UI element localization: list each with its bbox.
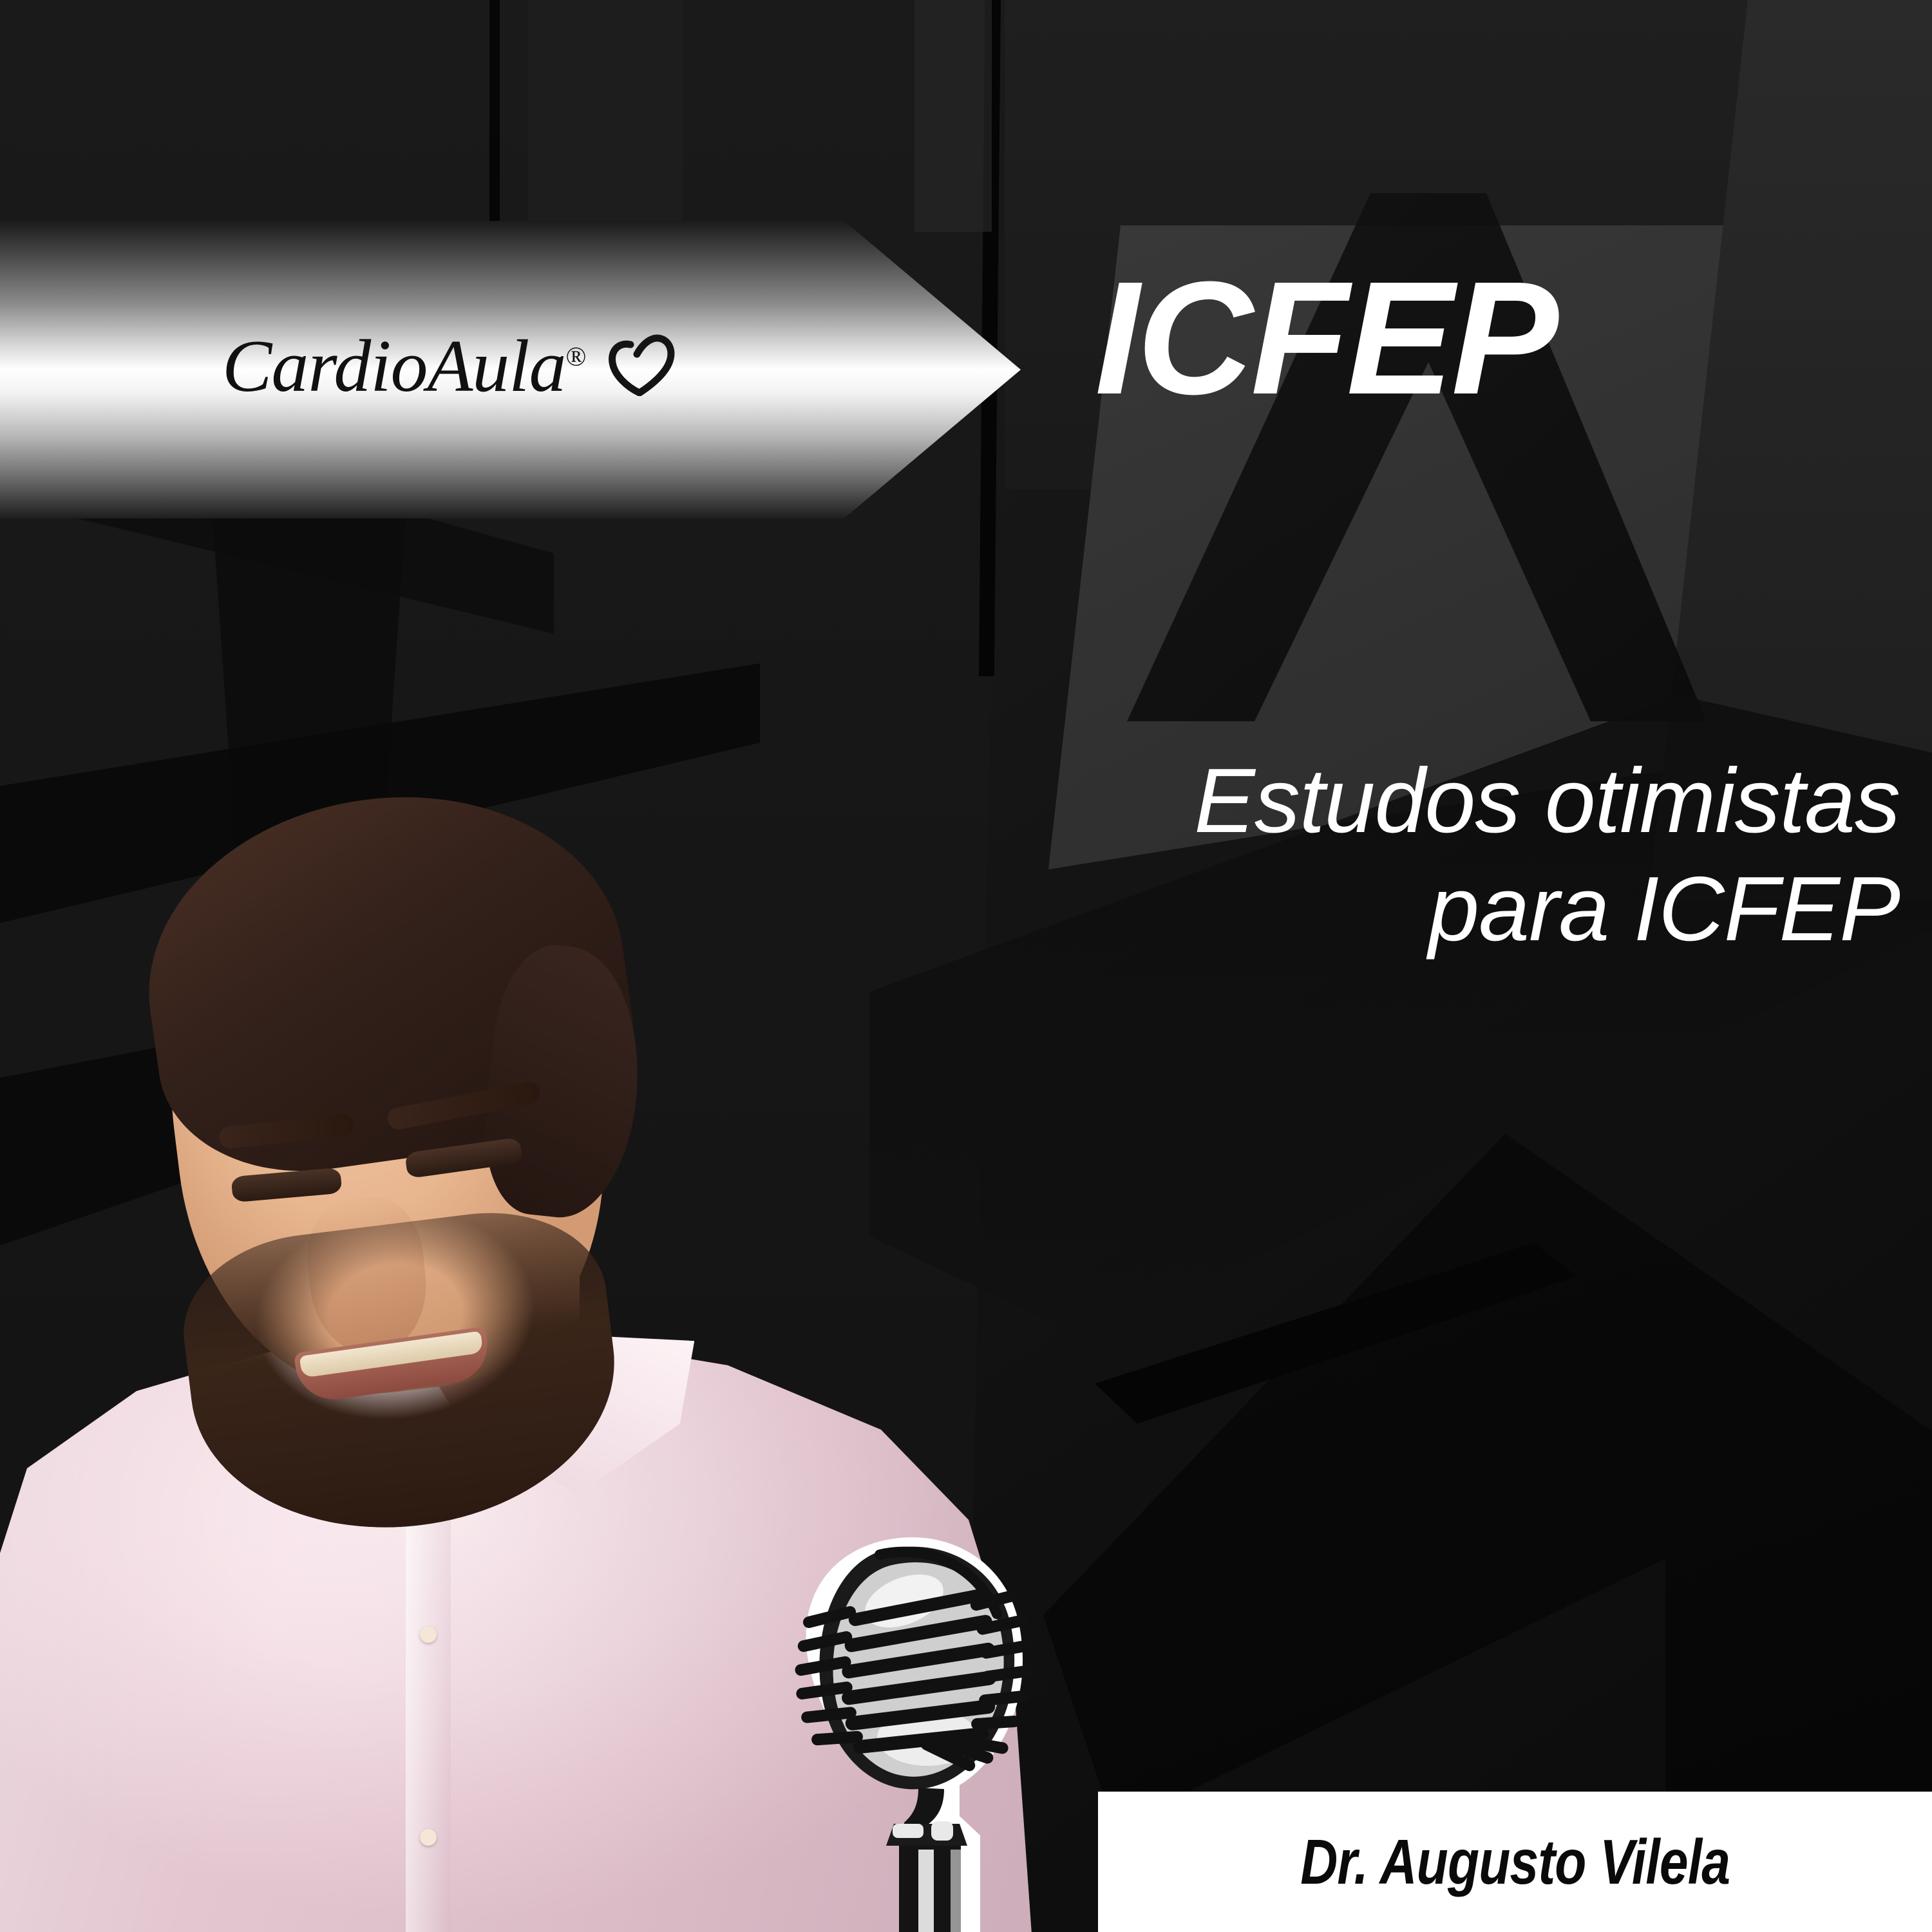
brand-banner: CardioAula® [0, 221, 1021, 518]
background-column-3 [914, 0, 992, 232]
episode-subtitle: Estudos otimistas para ICFEP [953, 747, 1900, 963]
presenter-name-bar: Dr. Augusto Vilela [1098, 1792, 1932, 1932]
registered-trademark-symbol: ® [566, 342, 587, 372]
brand-wordmark: CardioAula® [222, 329, 586, 404]
background-column-2 [528, 0, 683, 232]
subtitle-line-2: para ICFEP [953, 855, 1900, 963]
shirt-button-2 [420, 1626, 437, 1643]
vintage-microphone-icon [766, 1533, 1063, 1932]
heart-outline-icon [608, 333, 675, 396]
brand-name-text: CardioAula [222, 325, 566, 408]
shirt-button-3 [420, 1829, 437, 1846]
presenter-name: Dr. Augusto Vilela [1300, 1826, 1730, 1899]
page-title: ICFEP [1095, 258, 1900, 419]
background-column-1 [489, 0, 500, 232]
podcast-cover: CardioAula® ICFEP Estudos otimistas para… [0, 0, 1932, 1932]
subtitle-line-1: Estudos otimistas [1194, 750, 1900, 852]
brand-banner-content: CardioAula® [222, 329, 675, 404]
